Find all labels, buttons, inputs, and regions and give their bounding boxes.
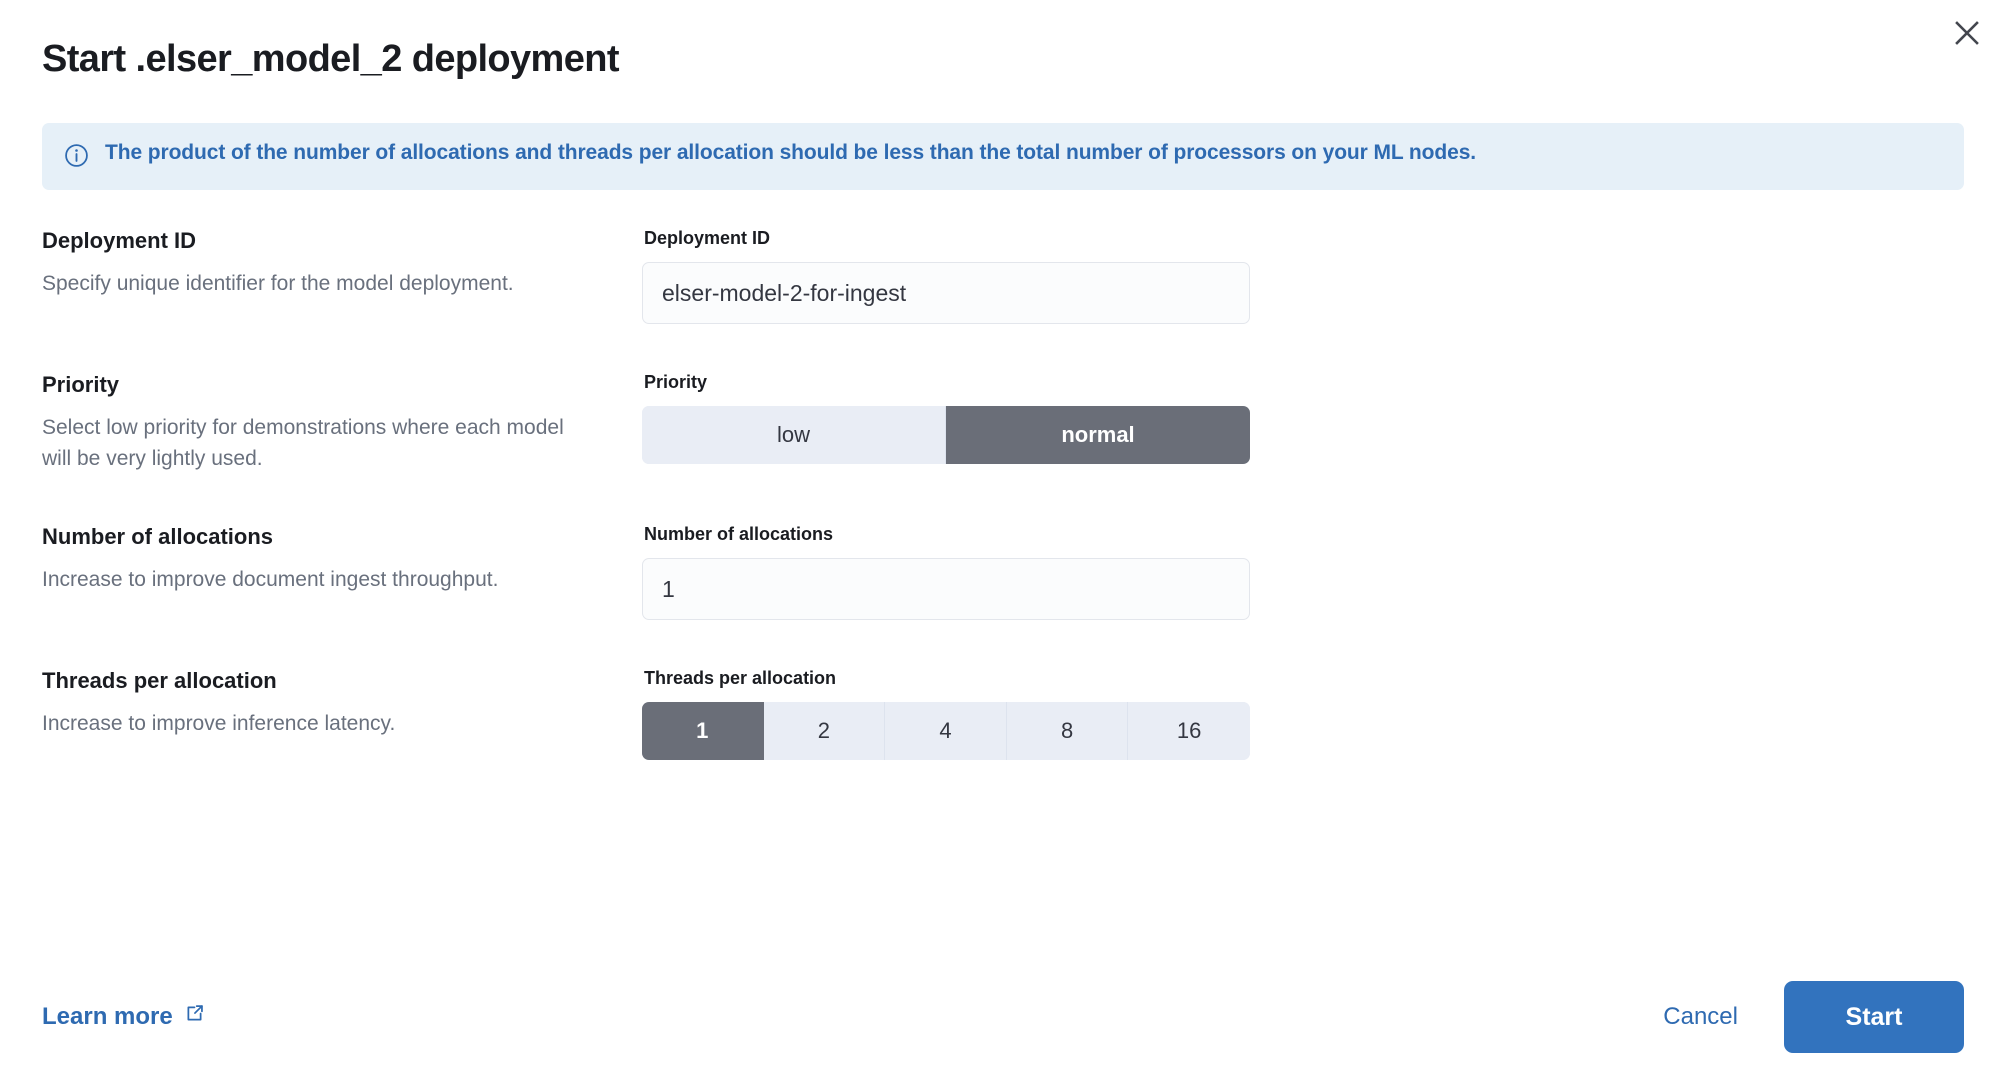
info-circle-icon — [64, 143, 89, 173]
deployment-id-input[interactable] — [642, 262, 1250, 324]
form-row-threads: Threads per allocation Increase to impro… — [42, 666, 1964, 760]
threads-option-1[interactable]: 1 — [642, 702, 764, 760]
start-button[interactable]: Start — [1784, 981, 1964, 1053]
deployment-id-description-column: Deployment ID Specify unique identifier … — [42, 226, 642, 299]
allocations-label: Number of allocations — [644, 522, 1964, 546]
threads-title: Threads per allocation — [42, 666, 598, 696]
allocations-description-column: Number of allocations Increase to improv… — [42, 522, 642, 595]
priority-label: Priority — [644, 370, 1964, 394]
page-title: Start .elser_model_2 deployment — [42, 36, 1964, 82]
modal-header: Start .elser_model_2 deployment — [0, 0, 2006, 82]
footer-actions: Cancel Start — [1641, 981, 1964, 1053]
cancel-button[interactable]: Cancel — [1641, 989, 1760, 1045]
priority-button-group[interactable]: low normal — [642, 406, 1250, 464]
threads-label: Threads per allocation — [644, 666, 1964, 690]
form-row-allocations: Number of allocations Increase to improv… — [42, 522, 1964, 620]
threads-option-16[interactable]: 16 — [1128, 702, 1250, 760]
allocations-input[interactable] — [642, 558, 1250, 620]
threads-button-group[interactable]: 1 2 4 8 16 — [642, 702, 1250, 760]
close-modal-button[interactable] — [1941, 7, 1993, 59]
callout-text: The product of the number of allocations… — [105, 139, 1476, 167]
priority-option-low[interactable]: low — [642, 406, 946, 464]
threads-option-2[interactable]: 2 — [764, 702, 886, 760]
priority-title: Priority — [42, 370, 598, 400]
close-icon — [1954, 20, 1980, 46]
threads-description-column: Threads per allocation Increase to impro… — [42, 666, 642, 739]
deployment-id-label: Deployment ID — [644, 226, 1964, 250]
start-deployment-modal: Start .elser_model_2 deployment The prod… — [0, 0, 2006, 1088]
priority-option-normal[interactable]: normal — [946, 406, 1250, 464]
form-row-priority: Priority Select low priority for demonst… — [42, 370, 1964, 474]
deployment-id-description: Specify unique identifier for the model … — [42, 268, 598, 299]
threads-description: Increase to improve inference latency. — [42, 708, 598, 739]
modal-footer: Learn more Cancel Start — [0, 946, 2006, 1088]
learn-more-link[interactable]: Learn more — [42, 1003, 205, 1031]
priority-control-column: Priority low normal — [642, 370, 1964, 464]
threads-control-column: Threads per allocation 1 2 4 8 16 — [642, 666, 1964, 760]
allocations-description: Increase to improve document ingest thro… — [42, 564, 598, 595]
threads-option-8[interactable]: 8 — [1007, 702, 1129, 760]
threads-option-4[interactable]: 4 — [885, 702, 1007, 760]
external-link-icon — [184, 1003, 205, 1031]
learn-more-label: Learn more — [42, 1003, 173, 1031]
priority-description-column: Priority Select low priority for demonst… — [42, 370, 642, 474]
deployment-id-control-column: Deployment ID — [642, 226, 1964, 324]
info-callout: The product of the number of allocations… — [42, 123, 1964, 190]
allocations-control-column: Number of allocations — [642, 522, 1964, 620]
allocations-title: Number of allocations — [42, 522, 598, 552]
priority-description: Select low priority for demonstrations w… — [42, 412, 598, 474]
deployment-id-title: Deployment ID — [42, 226, 598, 256]
form-row-deployment-id: Deployment ID Specify unique identifier … — [42, 226, 1964, 324]
deployment-form: Deployment ID Specify unique identifier … — [0, 226, 2006, 760]
